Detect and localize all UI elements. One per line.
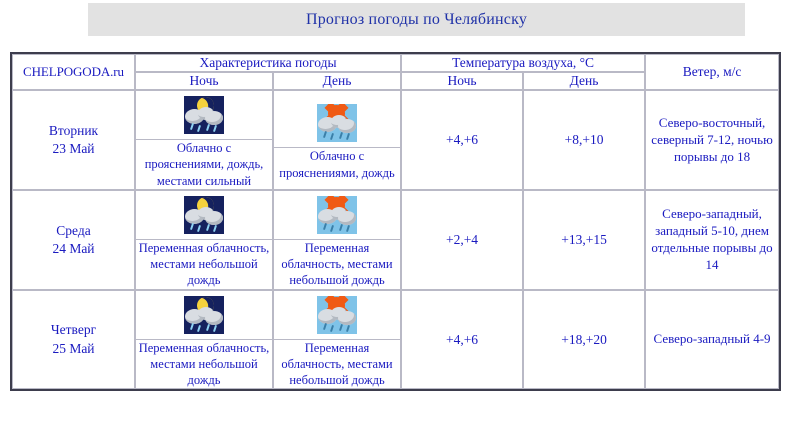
- subheader-temp-night: Ночь: [401, 72, 523, 90]
- table-row: Четверг 25 Май Переменная облачность, ме…: [12, 290, 779, 390]
- weather-icon-slot: [274, 191, 400, 240]
- temp-day: +13,+15: [523, 190, 645, 290]
- day-date: 23 Май: [13, 140, 134, 158]
- weather-night-cell: Переменная облачность, местами небольшой…: [135, 290, 273, 390]
- wind-description: Северо-западный 4-9: [645, 290, 779, 390]
- weather-icon-slot: [136, 91, 272, 140]
- header-wind: Ветер, м/с: [645, 54, 779, 90]
- temp-night: +4,+6: [401, 290, 523, 390]
- header-temperature: Температура воздуха, °C: [401, 54, 645, 72]
- page-title: Прогноз погоды по Челябинску: [306, 11, 527, 29]
- table-row: Вторник 23 Май Облачно с прояснениями, д…: [12, 90, 779, 190]
- day-name: Среда: [13, 222, 134, 240]
- weather-description: Переменная облачность, местами небольшой…: [274, 240, 400, 289]
- weather-day-cell: Переменная облачность, местами небольшой…: [273, 190, 401, 290]
- table-header-row-group: CHELPOGODA.ru Характеристика погоды Темп…: [12, 54, 779, 72]
- sun-clouds-rain-icon: [317, 104, 357, 142]
- weather-night-cell: Облачно с прояснениями, дождь, местами с…: [135, 90, 273, 190]
- day-name: Вторник: [13, 122, 134, 140]
- subheader-weather-day: День: [273, 72, 401, 90]
- day-label: Четверг 25 Май: [12, 290, 135, 390]
- day-label: Вторник 23 Май: [12, 90, 135, 190]
- day-date: 24 Май: [13, 240, 134, 258]
- temp-night: +2,+4: [401, 190, 523, 290]
- weather-icon-slot: [136, 191, 272, 240]
- forecast-table-wrapper: CHELPOGODA.ru Характеристика погоды Темп…: [10, 52, 781, 391]
- forecast-table: CHELPOGODA.ru Характеристика погоды Темп…: [10, 52, 781, 391]
- header-weather: Характеристика погоды: [135, 54, 401, 72]
- weather-description: Переменная облачность, местами небольшой…: [136, 340, 272, 389]
- weather-description: Облачно с прояснениями, дождь: [274, 148, 400, 181]
- day-label: Среда 24 Май: [12, 190, 135, 290]
- sun-clouds-rain-icon: [317, 296, 357, 334]
- table-row: Среда 24 Май Переменная облачность, мест…: [12, 190, 779, 290]
- weather-icon-slot: [136, 291, 272, 340]
- weather-day-cell: Переменная облачность, местами небольшой…: [273, 290, 401, 390]
- moon-clouds-rain-icon: [184, 296, 224, 334]
- weather-day-cell: Облачно с прояснениями, дождь: [273, 90, 401, 190]
- weather-description: Переменная облачность, местами небольшой…: [274, 340, 400, 389]
- moon-clouds-rain-icon: [184, 96, 224, 134]
- temp-night: +4,+6: [401, 90, 523, 190]
- day-name: Четверг: [13, 321, 134, 339]
- temp-day: +8,+10: [523, 90, 645, 190]
- temp-day: +18,+20: [523, 290, 645, 390]
- brand-label: CHELPOGODA.ru: [12, 54, 135, 90]
- wind-description: Северо-западный, западный 5-10, днем отд…: [645, 190, 779, 290]
- day-date: 25 Май: [13, 340, 134, 358]
- subheader-weather-night: Ночь: [135, 72, 273, 90]
- page-title-banner: Прогноз погоды по Челябинску: [88, 3, 745, 36]
- weather-icon-slot: [274, 99, 400, 148]
- wind-description: Северо-восточный, северный 7-12, ночью п…: [645, 90, 779, 190]
- weather-description: Облачно с прояснениями, дождь, местами с…: [136, 140, 272, 189]
- weather-icon-slot: [274, 291, 400, 340]
- moon-clouds-rain-icon: [184, 196, 224, 234]
- weather-night-cell: Переменная облачность, местами небольшой…: [135, 190, 273, 290]
- sun-clouds-rain-icon: [317, 196, 357, 234]
- subheader-temp-day: День: [523, 72, 645, 90]
- weather-description: Переменная облачность, местами небольшой…: [136, 240, 272, 289]
